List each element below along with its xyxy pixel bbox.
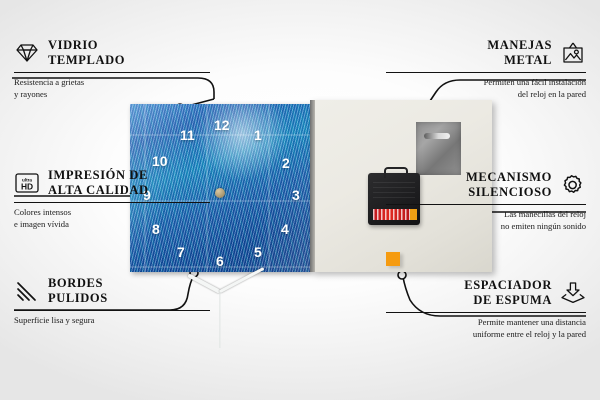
clock-numeral-6: 6 bbox=[216, 254, 224, 268]
clock-numeral-2: 2 bbox=[282, 156, 290, 170]
feature-espaciador-subtitle-line2: uniforme entre el reloj y la pared bbox=[473, 329, 586, 339]
feature-impresion-alta-calidad: ultra HD IMPRESIÓN DE ALTA CALIDAD Color… bbox=[14, 168, 214, 230]
feature-bordes-rule bbox=[14, 310, 210, 312]
feature-espaciador-title-line2: DE ESPUMA bbox=[473, 293, 552, 307]
clock-numeral-5: 5 bbox=[254, 245, 262, 259]
feature-espaciador-rule bbox=[386, 312, 586, 314]
clock-side-edge bbox=[310, 100, 315, 272]
feature-impresion-subtitle-line1: Colores intensos bbox=[14, 207, 71, 217]
feature-manejas-subtitle-line2: del reloj en la pared bbox=[518, 89, 586, 99]
hanger-slot bbox=[424, 133, 450, 139]
feature-mecanismo-title-line2: SILENCIOSO bbox=[468, 185, 552, 199]
feature-vidrio-title-line1: VIDRIO bbox=[48, 38, 98, 52]
feature-mecanismo-title-line1: MECANISMO bbox=[466, 170, 552, 184]
feature-impresion-subtitle-line2: e imagen vívida bbox=[14, 219, 69, 229]
feature-espaciador-title-line1: ESPACIADOR bbox=[464, 278, 552, 292]
feature-manejas-metal: MANEJAS METAL Permiten una fácil instala… bbox=[386, 38, 586, 100]
feature-impresion-rule bbox=[14, 202, 210, 204]
feature-espaciador-espuma: ESPACIADOR DE ESPUMA Permite mantener un… bbox=[386, 278, 586, 340]
feature-manejas-subtitle-line1: Permiten una fácil instalación bbox=[484, 77, 586, 87]
feature-vidrio-subtitle-line2: y rayones bbox=[14, 89, 47, 99]
metal-hanger bbox=[416, 122, 461, 175]
clock-numeral-12: 12 bbox=[214, 118, 230, 132]
feature-mecanismo-rule bbox=[386, 204, 586, 206]
clock-numeral-4: 4 bbox=[281, 222, 289, 236]
feature-mecanismo-subtitle-line1: Las manecillas del reloj bbox=[504, 209, 586, 219]
feature-bordes-subtitle-line1: Superficie lisa y segura bbox=[14, 315, 94, 325]
clock-numeral-1: 1 bbox=[254, 128, 262, 142]
feature-espaciador-subtitle-line1: Permite mantener una distancia bbox=[478, 317, 586, 327]
clock-numeral-7: 7 bbox=[177, 245, 185, 259]
diagonal-lines-icon bbox=[14, 278, 40, 304]
foam-spacer bbox=[386, 252, 400, 266]
feature-mecanismo-silencioso: MECANISMO SILENCIOSO Las manecillas del … bbox=[386, 170, 586, 232]
feature-impresion-title-line1: IMPRESIÓN DE bbox=[48, 168, 148, 182]
ultra-hd-icon: ultra HD bbox=[14, 170, 40, 196]
feature-manejas-rule bbox=[386, 72, 586, 74]
feature-vidrio-rule bbox=[14, 72, 210, 74]
diamond-icon bbox=[14, 40, 40, 66]
feature-vidrio-templado: VIDRIO TEMPLADO Resistencia a grietas y … bbox=[14, 38, 214, 100]
gear-icon bbox=[560, 172, 586, 198]
clock-numeral-10: 10 bbox=[152, 154, 168, 168]
clock-numeral-3: 3 bbox=[292, 188, 300, 202]
feature-mecanismo-subtitle-line2: no emiten ningún sonido bbox=[501, 221, 586, 231]
clock-numeral-11: 11 bbox=[180, 128, 195, 142]
arrow-into-layers-icon bbox=[560, 280, 586, 306]
feature-bordes-pulidos: BORDES PULIDOS Superficie lisa y segura bbox=[14, 276, 214, 327]
feature-impresion-title-line2: ALTA CALIDAD bbox=[48, 183, 149, 197]
svg-text:HD: HD bbox=[21, 181, 33, 191]
infographic-canvas: 12 1 2 3 4 5 6 7 8 9 10 11 bbox=[0, 0, 600, 400]
clock-hands-hub bbox=[215, 188, 225, 198]
feature-bordes-title-line1: BORDES bbox=[48, 276, 103, 290]
hanging-frame-icon bbox=[560, 40, 586, 66]
feature-manejas-title-line1: MANEJAS bbox=[487, 38, 552, 52]
feature-vidrio-title-line2: TEMPLADO bbox=[48, 53, 125, 67]
feature-manejas-title-line2: METAL bbox=[504, 53, 552, 67]
feature-vidrio-subtitle-line1: Resistencia a grietas bbox=[14, 77, 84, 87]
feature-bordes-title-line2: PULIDOS bbox=[48, 291, 108, 305]
